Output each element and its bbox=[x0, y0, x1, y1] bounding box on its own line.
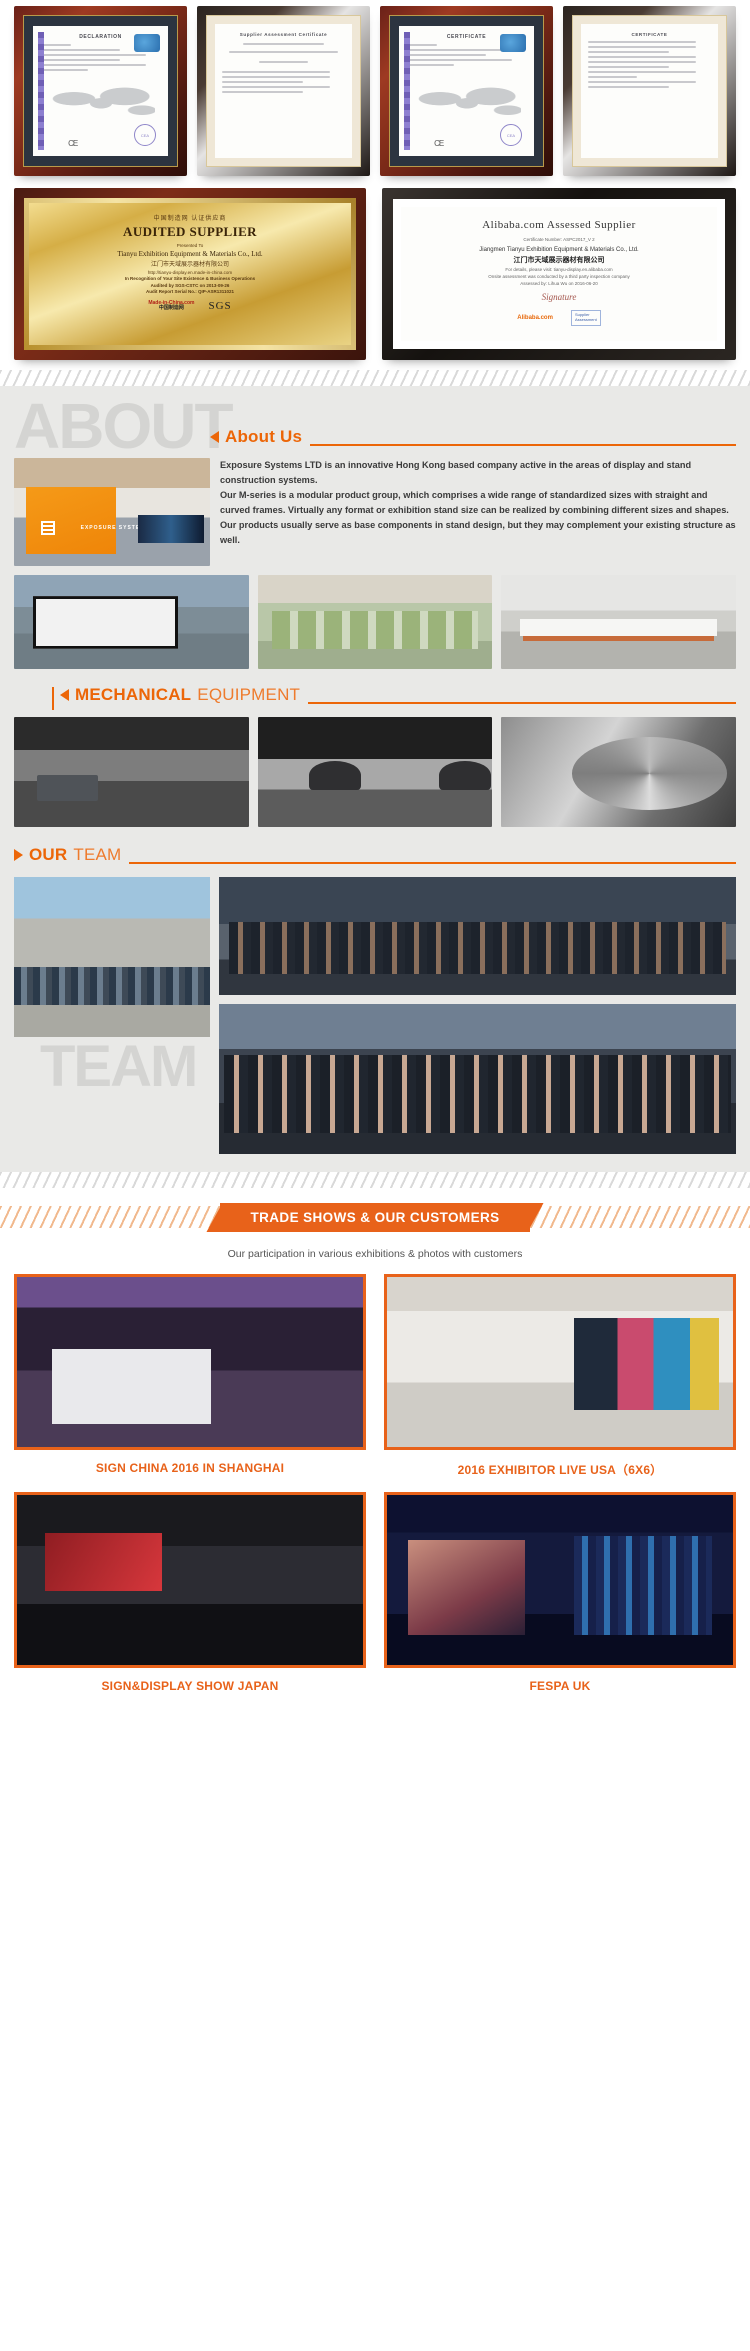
sgs-logo: SGS bbox=[208, 300, 231, 312]
trade-shows-grid: SIGN CHINA 2016 IN SHANGHAI 2016 EXHIBIT… bbox=[0, 1260, 750, 1711]
team-heading-light: TEAM bbox=[73, 845, 121, 865]
plaque-serial-line: Audit Report Serial No.: QIP-ASR1311021 bbox=[37, 289, 343, 294]
text-line bbox=[406, 54, 486, 56]
team-photo-grid: TEAM bbox=[14, 877, 736, 1154]
certificate-paper: DECLARATION CE CEA bbox=[33, 26, 168, 156]
trade-shows-banner-title: TRADE SHOWS & OUR CUSTOMERS bbox=[220, 1203, 529, 1232]
about-paragraph-2: Our M-series is a modular product group,… bbox=[220, 488, 736, 548]
triangle-left-icon bbox=[210, 431, 219, 443]
text-line bbox=[40, 69, 88, 71]
plaque-company-en: Tianyu Exhibition Equipment & Materials … bbox=[37, 250, 343, 258]
about-section: ABOUT About Us EXPOSURE SYSTEMS LTD Expo… bbox=[0, 386, 750, 1172]
text-line bbox=[588, 76, 637, 78]
made-in-china-logo-cn: 中国制造网 bbox=[148, 306, 194, 312]
about-paragraph-1: Exposure Systems LTD is an innovative Ho… bbox=[220, 458, 736, 488]
alibaba-cert-number: Certificate Number: ASPC2017_V 2 bbox=[411, 237, 707, 242]
alibaba-assessed-by: Assessed by: Lihua Wu on 2016-06-20 bbox=[411, 281, 707, 286]
triangle-left-icon bbox=[60, 689, 69, 701]
about-heading-title: About Us bbox=[210, 427, 302, 450]
text-line bbox=[222, 91, 303, 93]
plaque-heading: AUDITED SUPPLIER bbox=[37, 224, 343, 240]
stripe-left bbox=[0, 1206, 220, 1228]
about-photo-strip bbox=[14, 575, 736, 669]
about-heading-row: ABOUT About Us bbox=[14, 400, 736, 452]
heading-underline bbox=[129, 862, 736, 864]
text-line bbox=[40, 59, 120, 61]
machine-photo-3 bbox=[501, 717, 736, 827]
alibaba-certificate-title: Alibaba.com Assessed Supplier bbox=[411, 219, 707, 231]
text-line bbox=[588, 66, 669, 68]
text-line bbox=[229, 51, 337, 53]
text-line bbox=[40, 64, 146, 66]
diagonal-stripe-divider-top bbox=[0, 370, 750, 386]
signature-graphic: Signature bbox=[411, 292, 707, 302]
globe-icon bbox=[134, 34, 160, 52]
supplier-assessment-badge: Supplier Assessment bbox=[571, 310, 601, 326]
text-line bbox=[406, 49, 512, 51]
team-photo-booth bbox=[219, 877, 736, 995]
display-screen bbox=[138, 515, 205, 543]
trade-show-sign-china[interactable]: SIGN CHINA 2016 IN SHANGHAI bbox=[14, 1274, 366, 1478]
text-line bbox=[243, 43, 324, 45]
text-line bbox=[588, 86, 669, 88]
plaque-recognition-line: In Recognition of Your Site Existence & … bbox=[37, 276, 343, 281]
text-line bbox=[40, 49, 120, 51]
plaque-face: 中国制造网 认证供应商 AUDITED SUPPLIER Presented T… bbox=[24, 198, 356, 350]
plaque-website: http://tianyu-display.en.made-in-china.c… bbox=[37, 270, 343, 275]
about-photo-exterior bbox=[14, 575, 249, 669]
text-line bbox=[588, 46, 696, 48]
about-us-heading: About Us bbox=[210, 427, 736, 452]
badge-line-2: Assessment bbox=[575, 318, 597, 323]
text-line bbox=[222, 76, 330, 78]
team-heading-strong: OUR bbox=[29, 845, 67, 865]
trade-shows-banner-row: TRADE SHOWS & OUR CUSTOMERS bbox=[0, 1202, 750, 1232]
trade-show-photo[interactable] bbox=[384, 1492, 736, 1668]
trade-show-caption: 2016 EXHIBITOR LIVE USA（6X6） bbox=[384, 1461, 736, 1478]
alibaba-detail-line: For details, please visit: tianyu-displa… bbox=[411, 267, 707, 272]
ce-mark-icon: CE bbox=[68, 139, 77, 148]
certificates-row-bottom: 中国制造网 认证供应商 AUDITED SUPPLIER Presented T… bbox=[0, 176, 750, 360]
ce-mark-icon: CE bbox=[434, 139, 443, 148]
world-map-graphic bbox=[47, 78, 155, 124]
trade-show-photo[interactable] bbox=[14, 1274, 366, 1450]
iso-certificate: CERTIFICATE CE CEA bbox=[380, 6, 553, 176]
text-line bbox=[222, 71, 330, 73]
trade-show-caption: SIGN&DISPLAY SHOW JAPAN bbox=[14, 1679, 366, 1693]
ce-declaration-certificate: DECLARATION CE CEA bbox=[14, 6, 187, 176]
alibaba-assessed-supplier-certificate: Alibaba.com Assessed Supplier Certificat… bbox=[382, 188, 736, 360]
supplier-assessment-certificate: Supplier Assessment Certificate bbox=[197, 6, 370, 176]
triangle-right-icon bbox=[14, 849, 23, 861]
team-heading-title: OUR TEAM bbox=[14, 845, 121, 868]
certificate-mat: CERTIFICATE CE CEA bbox=[389, 15, 544, 167]
team-right-column bbox=[219, 877, 736, 1154]
globe-icon bbox=[500, 34, 526, 52]
team-watermark: TEAM bbox=[14, 1043, 210, 1091]
trade-show-exhibitor-live-usa[interactable]: 2016 EXHIBITOR LIVE USA（6X6） bbox=[384, 1274, 736, 1478]
heading-accent-bar bbox=[52, 687, 54, 710]
certificates-row-top: DECLARATION CE CEA bbox=[0, 6, 750, 176]
alibaba-company-cn: 江门市天域展示器材有限公司 bbox=[411, 255, 707, 265]
exposure-logo-icon bbox=[41, 521, 55, 535]
alibaba-logo: Alibaba.com bbox=[517, 315, 553, 321]
certificate-seal: CEA bbox=[500, 124, 522, 146]
team-left-column: TEAM bbox=[14, 877, 210, 1154]
orange-booth-panel bbox=[26, 487, 116, 554]
heading-underline bbox=[310, 444, 736, 446]
about-text-block: Exposure Systems LTD is an innovative Ho… bbox=[220, 458, 736, 566]
text-line bbox=[40, 44, 71, 46]
text-line bbox=[588, 71, 696, 73]
about-heading-text: About Us bbox=[225, 427, 302, 447]
diagonal-stripe-divider-bottom bbox=[0, 1172, 750, 1188]
trade-show-caption: FESPA UK bbox=[384, 1679, 736, 1693]
certificate-paper: CERTIFICATE bbox=[581, 24, 718, 158]
certificate-mat: Alibaba.com Assessed Supplier Certificat… bbox=[393, 199, 725, 349]
text-line bbox=[222, 86, 330, 88]
trade-show-photo[interactable] bbox=[14, 1492, 366, 1668]
mechanical-equipment-heading: MECHANICAL EQUIPMENT bbox=[14, 685, 736, 708]
mechanical-heading-title: MECHANICAL EQUIPMENT bbox=[60, 685, 300, 708]
certificate-mat: CERTIFICATE bbox=[572, 15, 727, 167]
our-team-heading: OUR TEAM bbox=[14, 845, 736, 868]
text-line bbox=[588, 61, 696, 63]
text-line bbox=[406, 64, 454, 66]
plaque-cn-top: 中国制造网 认证供应商 bbox=[37, 213, 343, 222]
audited-supplier-plaque: 中国制造网 认证供应商 AUDITED SUPPLIER Presented T… bbox=[14, 188, 366, 360]
stripe-right bbox=[530, 1206, 750, 1228]
plaque-company-cn: 江门市天域展示器材有限公司 bbox=[37, 259, 343, 268]
certificate-mat: DECLARATION CE CEA bbox=[23, 15, 178, 167]
trade-show-photo[interactable] bbox=[384, 1274, 736, 1450]
text-line bbox=[588, 51, 669, 53]
certificate-paper: Alibaba.com Assessed Supplier Certificat… bbox=[401, 207, 717, 341]
mechanical-photo-row bbox=[14, 717, 736, 827]
alibaba-company-en: Jiangmen Tianyu Exhibition Equipment & M… bbox=[411, 247, 707, 253]
text-line bbox=[588, 81, 696, 83]
machine-photo-2 bbox=[258, 717, 493, 827]
text-line bbox=[406, 44, 437, 46]
about-office-photo: EXPOSURE SYSTEMS LTD bbox=[14, 458, 210, 566]
about-content-row: EXPOSURE SYSTEMS LTD Exposure Systems LT… bbox=[14, 458, 736, 566]
alibaba-badges: Alibaba.com Supplier Assessment bbox=[411, 310, 707, 326]
mechanical-heading-strong: MECHANICAL bbox=[75, 685, 191, 705]
about-watermark: ABOUT bbox=[14, 400, 210, 452]
business-license-certificate: CERTIFICATE bbox=[563, 6, 736, 176]
plaque-logos: Made-in-China.com 中国制造网 SGS bbox=[37, 300, 343, 312]
world-map-graphic bbox=[413, 78, 521, 124]
team-group-photo-outdoor bbox=[14, 877, 210, 1037]
certificate-title: Supplier Assessment Certificate bbox=[222, 32, 345, 37]
certificate-title: CERTIFICATE bbox=[588, 32, 711, 37]
product-detail-page: DECLARATION CE CEA bbox=[0, 0, 750, 1711]
trade-show-caption: SIGN CHINA 2016 IN SHANGHAI bbox=[14, 1461, 366, 1475]
certificate-paper: CERTIFICATE CE CEA bbox=[399, 26, 534, 156]
certificate-mat: Supplier Assessment Certificate bbox=[206, 15, 361, 167]
plaque-presented-label: Presented To bbox=[37, 243, 343, 248]
made-in-china-logo: Made-in-China.com 中国制造网 bbox=[148, 301, 194, 312]
about-photo-meeting-room bbox=[501, 575, 736, 669]
about-photo-office bbox=[258, 575, 493, 669]
certificates-section: DECLARATION CE CEA bbox=[0, 0, 750, 370]
text-line bbox=[588, 41, 696, 43]
mechanical-heading-light: EQUIPMENT bbox=[197, 685, 300, 705]
trade-shows-subtitle: Our participation in various exhibitions… bbox=[0, 1248, 750, 1260]
certificate-paper: Supplier Assessment Certificate bbox=[215, 24, 352, 158]
trade-show-fespa-uk[interactable]: FESPA UK bbox=[384, 1492, 736, 1693]
alibaba-onsite-line: Onsite assessment was conducted by a thi… bbox=[411, 274, 707, 279]
machine-photo-1 bbox=[14, 717, 249, 827]
team-photo-exhibition bbox=[219, 1004, 736, 1154]
text-line bbox=[259, 61, 308, 63]
plaque-audited-line: Audited by SGS-CSTC on 2013-09-26 bbox=[37, 283, 343, 288]
text-line bbox=[40, 54, 146, 56]
text-line bbox=[588, 56, 696, 58]
text-line bbox=[222, 81, 303, 83]
heading-underline bbox=[308, 702, 736, 704]
trade-show-sign-display-japan[interactable]: SIGN&DISPLAY SHOW JAPAN bbox=[14, 1492, 366, 1693]
trade-shows-section: TRADE SHOWS & OUR CUSTOMERS Our particip… bbox=[0, 1188, 750, 1711]
text-line bbox=[406, 59, 512, 61]
certificate-seal: CEA bbox=[134, 124, 156, 146]
